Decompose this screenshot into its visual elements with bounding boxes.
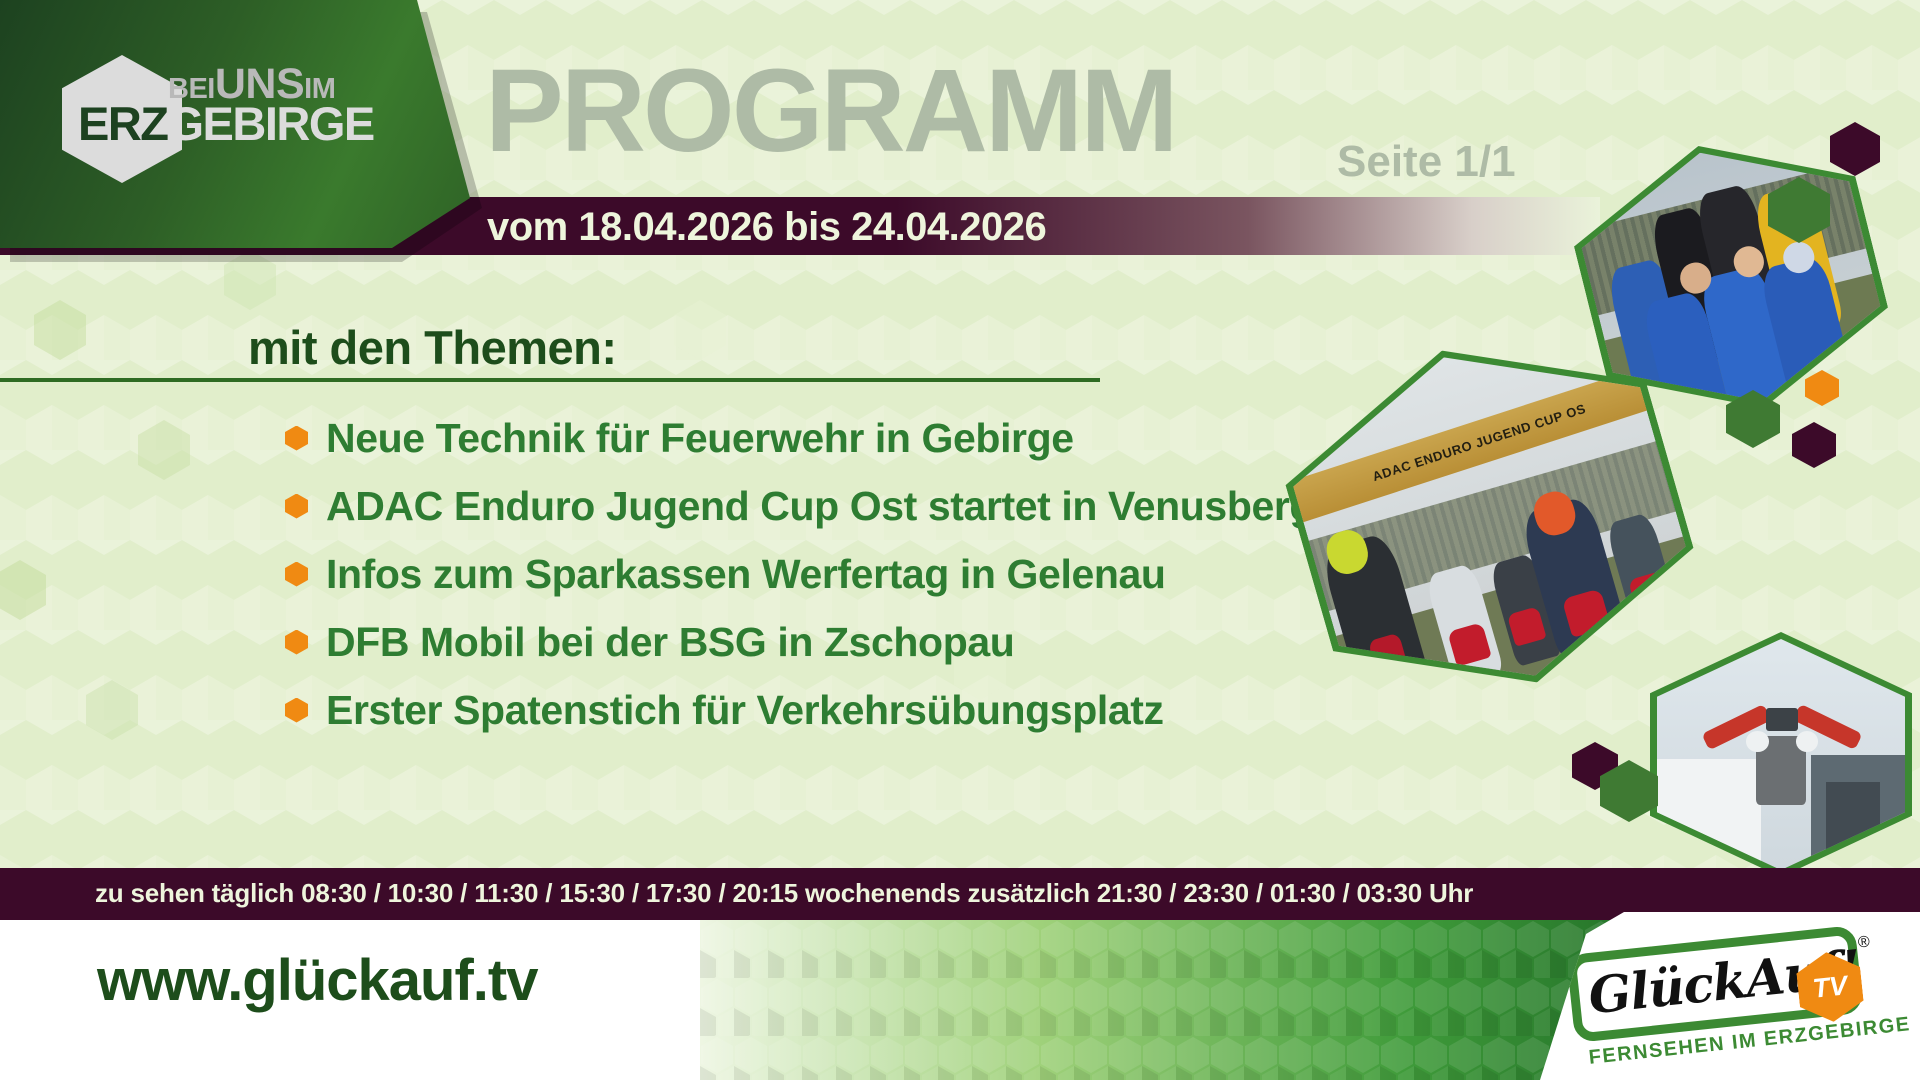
logo-line-two: ERZGEBIRGE — [78, 96, 374, 151]
topics-list: Neue Technik für Feuerwehr in Gebirge AD… — [285, 404, 1314, 744]
bullet-hexagon-icon — [285, 562, 308, 587]
glueckauf-tv-logo: GlückAuf! TV ® FERNSEHEN IM ERZGEBIRGE — [1540, 912, 1920, 1080]
bullet-hexagon-icon — [285, 698, 308, 723]
program-poster: vom 18.04.2026 bis 24.04.2026 PROGRAMM S… — [0, 0, 1920, 1080]
bullet-hexagon-icon — [285, 630, 308, 655]
website-url[interactable]: www.glückauf.tv — [97, 947, 537, 1014]
bullet-hexagon-icon — [285, 494, 308, 519]
logo-word-gebirge: GEBIRGE — [168, 97, 374, 150]
list-item-label: Erster Spatenstich für Verkehrsübungspla… — [326, 687, 1164, 734]
list-item: Neue Technik für Feuerwehr in Gebirge — [285, 404, 1314, 472]
tv-badge-label: TV — [1811, 970, 1849, 1004]
photo-fire-drone — [1650, 632, 1912, 877]
topics-heading: mit den Themen: — [248, 320, 617, 375]
list-item: Infos zum Sparkassen Werfertag in Gelena… — [285, 540, 1314, 608]
logo-word-erz: ERZ — [78, 97, 168, 150]
list-item: ADAC Enduro Jugend Cup Ost startet in Ve… — [285, 472, 1314, 540]
list-item-label: ADAC Enduro Jugend Cup Ost startet in Ve… — [326, 483, 1314, 530]
bullet-hexagon-icon — [285, 426, 308, 451]
date-range-text: vom 18.04.2026 bis 24.04.2026 — [487, 205, 1046, 250]
registered-trademark-icon: ® — [1857, 933, 1871, 952]
list-item-label: DFB Mobil bei der BSG in Zschopau — [326, 619, 1014, 666]
list-item-label: Neue Technik für Feuerwehr in Gebirge — [326, 415, 1074, 462]
list-item: Erster Spatenstich für Verkehrsübungspla… — [285, 676, 1314, 744]
page-indicator: Seite 1/1 — [1337, 137, 1516, 187]
topics-divider — [0, 378, 1100, 382]
bei-uns-im-erzgebirge-logo: BEIUNSIM ERZGEBIRGE — [0, 0, 470, 248]
page-title: PROGRAMM — [485, 52, 1176, 170]
list-item: DFB Mobil bei der BSG in Zschopau — [285, 608, 1314, 676]
broadcast-times-text: zu sehen täglich 08:30 / 10:30 / 11:30 /… — [95, 878, 1473, 909]
list-item-label: Infos zum Sparkassen Werfertag in Gelena… — [326, 551, 1166, 598]
